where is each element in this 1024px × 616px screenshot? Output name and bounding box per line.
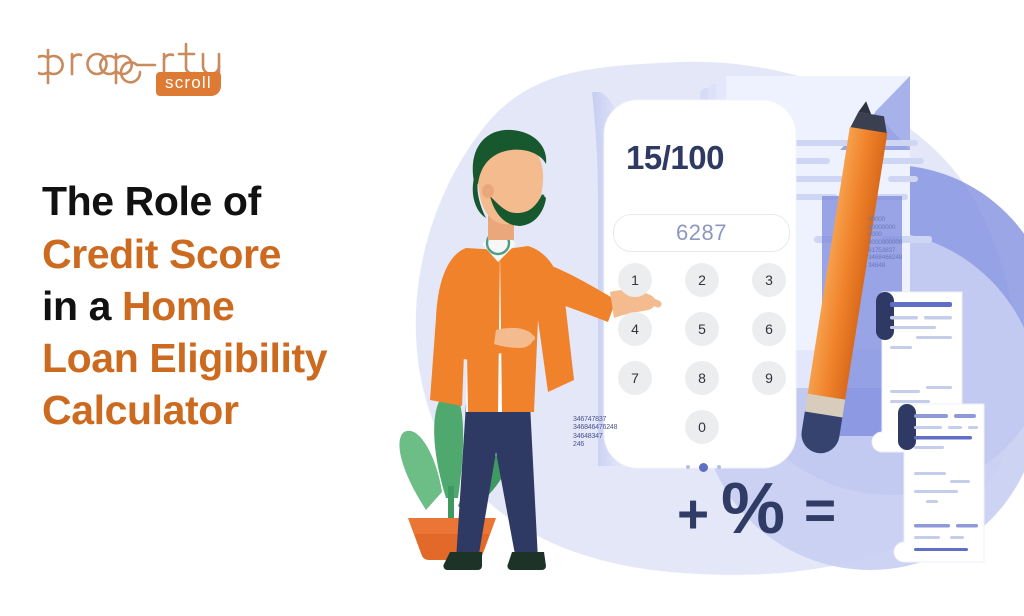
calculator-key-5[interactable]: 5 bbox=[685, 312, 719, 346]
indicator-dot-1 bbox=[686, 465, 690, 469]
indicator-dot-3 bbox=[717, 465, 721, 469]
calculator-progress-label: 15/100 bbox=[626, 139, 724, 177]
blog-banner: scroll The Role of Credit Score in a Hom… bbox=[0, 0, 1024, 616]
indicator-dot-2-active bbox=[699, 463, 708, 472]
calculator-key-4[interactable]: 4 bbox=[618, 312, 652, 346]
calculator-key-9[interactable]: 9 bbox=[752, 361, 786, 395]
calculator-display[interactable]: 6287 bbox=[613, 214, 790, 252]
calculator-key-2[interactable]: 2 bbox=[685, 263, 719, 297]
calculator-key-3[interactable]: 3 bbox=[752, 263, 786, 297]
headline-line-3-accent: Home bbox=[122, 283, 234, 329]
headline-line-3-dark: in a bbox=[42, 283, 122, 329]
calculator-key-1[interactable]: 1 bbox=[618, 263, 652, 297]
numbers-block-left: 346747837 346846476248 34648347 246 bbox=[573, 416, 617, 449]
calculator-key-0[interactable]: 0 bbox=[685, 410, 719, 444]
brand-logo-badge: scroll bbox=[156, 72, 221, 96]
brand-logo[interactable]: scroll bbox=[38, 28, 258, 96]
plus-symbol: + bbox=[677, 487, 709, 542]
calculator-key-7[interactable]: 7 bbox=[618, 361, 652, 395]
brand-sub-label: scroll bbox=[165, 73, 212, 92]
brand-logo-wordmark bbox=[38, 28, 258, 96]
numbers-block-right: 00000 00000000 0000 0000000000 61753837 … bbox=[868, 216, 902, 270]
receipt-lower bbox=[894, 404, 984, 562]
percent-symbol: % bbox=[721, 473, 785, 545]
calculator-keypad[interactable]: 1 2 3 4 5 6 7 8 9 0 bbox=[605, 263, 800, 443]
calculator-key-8[interactable]: 8 bbox=[685, 361, 719, 395]
calculator-key-6[interactable]: 6 bbox=[752, 312, 786, 346]
equals-symbol: = bbox=[804, 483, 836, 538]
calculator-display-value: 6287 bbox=[676, 220, 727, 246]
